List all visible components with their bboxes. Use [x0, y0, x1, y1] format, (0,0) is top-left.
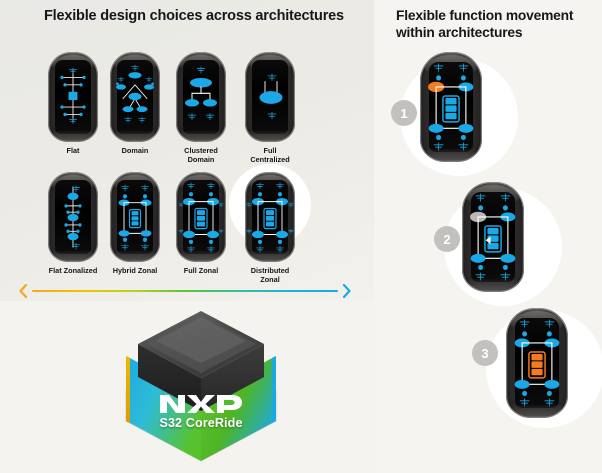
- architecture-label: Flat Zonalized: [48, 266, 98, 275]
- architecture-label: Full Zonal: [176, 266, 226, 275]
- architecture-card-distributed-zonal[interactable]: Distributed Zonal: [245, 172, 295, 284]
- architecture-card-full-zonal[interactable]: Full Zonal: [176, 172, 226, 275]
- body-outline: [245, 172, 295, 262]
- vehicle-silhouette: [420, 52, 482, 162]
- architecture-card-flat-zonalized[interactable]: Flat Zonalized: [48, 172, 98, 275]
- architecture-label: Full Centralized: [245, 146, 295, 164]
- body-outline: [110, 172, 160, 262]
- left-panel-title: Flexible design choices across architect…: [44, 8, 344, 26]
- vehicle-silhouette: [48, 52, 98, 142]
- vehicle-silhouette: [245, 172, 295, 262]
- body-outline: [176, 172, 226, 262]
- vehicle-silhouette: [110, 52, 160, 142]
- architecture-card-clustered-domain[interactable]: Clustered Domain: [176, 52, 226, 164]
- architecture-label: Domain: [110, 146, 160, 155]
- architecture-card-full-centralized[interactable]: Full Centralized: [245, 52, 295, 164]
- vehicle-silhouette: [462, 182, 524, 292]
- vehicle-silhouette: [110, 172, 160, 262]
- chevron-left-icon[interactable]: [18, 284, 28, 298]
- architecture-label: Hybrid Zonal: [110, 266, 160, 275]
- architecture-card-domain[interactable]: Domain: [110, 52, 160, 155]
- architecture-card-hybrid-zonal[interactable]: Hybrid Zonal: [110, 172, 160, 275]
- body-outline: [48, 172, 98, 262]
- architecture-card-flat[interactable]: Flat: [48, 52, 98, 155]
- body-outline: [462, 182, 524, 292]
- body-outline: [176, 52, 226, 142]
- infographic-root: Flexible design choices across architect…: [0, 0, 602, 473]
- progression-gradient-bar: [32, 290, 338, 292]
- step-badge-3: 3: [472, 340, 498, 366]
- right-panel-title: Flexible function movement within archit…: [396, 8, 602, 42]
- function-movement-car-2[interactable]: [462, 182, 524, 292]
- body-outline: [48, 52, 98, 142]
- body-outline: [110, 52, 160, 142]
- s32-coreride-product-box: S32 CoreRide: [118, 299, 284, 473]
- vehicle-silhouette: [245, 52, 295, 142]
- architecture-label: Flat: [48, 146, 98, 155]
- step-badge-2: 2: [434, 226, 460, 252]
- architecture-label: Distributed Zonal: [245, 266, 295, 284]
- product-box-illustration: [118, 299, 284, 473]
- body-outline: [245, 52, 295, 142]
- body-outline: [420, 52, 482, 162]
- body-outline: [506, 308, 568, 418]
- architecture-label: Clustered Domain: [176, 146, 226, 164]
- vehicle-silhouette: [176, 52, 226, 142]
- architecture-progression-arrow: [18, 283, 352, 299]
- nxp-wordmark-icon: [158, 392, 244, 416]
- function-movement-car-1[interactable]: [420, 52, 482, 162]
- chevron-right-icon[interactable]: [342, 284, 352, 298]
- function-movement-car-3[interactable]: [506, 308, 568, 418]
- product-name-label: S32 CoreRide: [118, 416, 284, 430]
- vehicle-silhouette: [506, 308, 568, 418]
- step-badge-1: 1: [391, 100, 417, 126]
- nxp-logo: [158, 392, 244, 416]
- vehicle-silhouette: [176, 172, 226, 262]
- vehicle-silhouette: [48, 172, 98, 262]
